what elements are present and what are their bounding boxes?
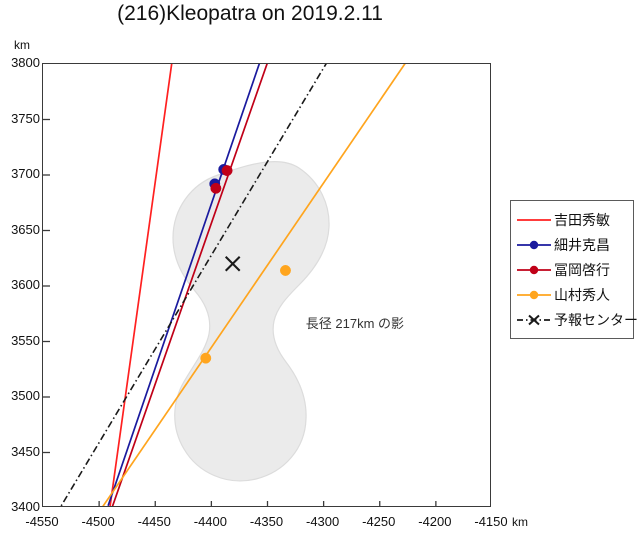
y-tick-label: 3450 xyxy=(0,444,40,459)
legend-item-1[interactable]: 吉田秀敏 xyxy=(515,207,629,232)
legend-item-label: 細井克昌 xyxy=(554,238,610,252)
legend-item-4[interactable]: 山村秀人 xyxy=(515,282,629,307)
legend-key-swatch xyxy=(515,263,553,277)
shadow-annotation-label: 長径 217km の影 xyxy=(306,313,404,332)
y-axis-unit-label: km xyxy=(14,38,30,52)
y-tick-label: 3650 xyxy=(0,222,40,237)
series-line xyxy=(109,64,173,507)
x-tick-label: -4500 xyxy=(68,514,128,529)
chord-endpoint-marker xyxy=(280,265,290,275)
legend-key-swatch xyxy=(515,213,553,227)
chord-endpoint-marker xyxy=(201,353,211,363)
legend-item-label: 山村秀人 xyxy=(554,288,610,302)
x-tick-label: -4550 xyxy=(12,514,72,529)
y-tick-label: 3500 xyxy=(0,388,40,403)
legend-item-label: 冨岡啓行 xyxy=(554,263,610,277)
x-tick-label: -4200 xyxy=(405,514,465,529)
legend-item-label: 予報センター xyxy=(554,313,638,327)
x-tick-label: -4450 xyxy=(124,514,184,529)
chart-title: (216)Kleopatra on 2019.2.11 xyxy=(0,2,500,26)
x-tick-label: -4150 xyxy=(461,514,521,529)
y-tick-label: 3700 xyxy=(0,166,40,181)
chord-endpoint-marker xyxy=(222,165,232,175)
x-tick-label: -4250 xyxy=(349,514,409,529)
legend-key-swatch xyxy=(515,313,553,327)
legend-item-label: 吉田秀敏 xyxy=(554,213,610,227)
y-tick-label: 3750 xyxy=(0,111,40,126)
x-tick-label: -4350 xyxy=(237,514,297,529)
chord-endpoint-marker xyxy=(211,183,221,193)
chart-legend: 吉田秀敏細井克昌冨岡啓行山村秀人予報センター xyxy=(510,200,634,339)
y-tick-label: 3400 xyxy=(0,499,40,514)
x-tick-label: -4300 xyxy=(293,514,353,529)
legend-item-2[interactable]: 細井克昌 xyxy=(515,232,629,257)
plot-area xyxy=(42,63,491,507)
legend-item-3[interactable]: 冨岡啓行 xyxy=(515,257,629,282)
legend-key-swatch xyxy=(515,288,553,302)
chart-root: (216)Kleopatra on 2019.2.11 km km 340034… xyxy=(0,0,640,535)
y-tick-label: 3550 xyxy=(0,333,40,348)
legend-key-swatch xyxy=(515,238,553,252)
x-tick-label: -4400 xyxy=(180,514,240,529)
y-tick-label: 3600 xyxy=(0,277,40,292)
plot-canvas xyxy=(43,64,491,507)
legend-item-5[interactable]: 予報センター xyxy=(515,307,629,332)
y-tick-label: 3800 xyxy=(0,55,40,70)
series-1 xyxy=(109,64,173,507)
